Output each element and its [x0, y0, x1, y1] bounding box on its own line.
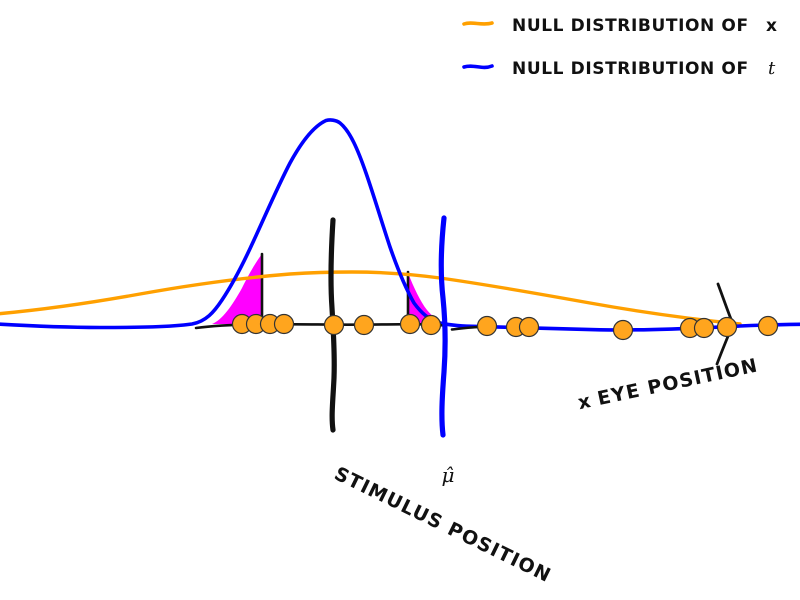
data-point — [695, 319, 714, 338]
legend-entry-null-distribution-of-x: NULL DISTRIBUTION OF x — [464, 16, 777, 36]
data-point — [614, 321, 633, 340]
eye-position-label-group: x EYE POSITION — [576, 354, 760, 414]
legend-symbol-x: x — [766, 16, 777, 36]
figure-root: NULL DISTRIBUTION OF x NULL DISTRIBUTION… — [0, 0, 800, 600]
legend-label-t: NULL DISTRIBUTION OF — [512, 59, 749, 79]
data-point — [275, 315, 294, 334]
data-point — [478, 317, 497, 336]
data-point — [759, 317, 778, 336]
data-point — [520, 318, 539, 337]
legend-swatch-orange — [464, 23, 492, 24]
data-point — [422, 316, 441, 335]
left-tail-shade — [212, 254, 262, 324]
legend-symbol-t: t — [768, 58, 776, 79]
legend-label-x: NULL DISTRIBUTION OF — [512, 16, 749, 36]
data-point — [401, 315, 420, 334]
legend-swatch-blue — [464, 66, 492, 67]
mu-hat-label: μ̂ — [442, 463, 455, 487]
eye-position-symbol: x — [576, 390, 593, 414]
legend-entry-null-distribution-of-t: NULL DISTRIBUTION OF t — [464, 58, 776, 79]
data-point — [325, 316, 344, 335]
legend: NULL DISTRIBUTION OF x NULL DISTRIBUTION… — [464, 16, 777, 79]
x-axis-segment-right — [452, 327, 478, 330]
data-point — [718, 318, 737, 337]
data-point — [355, 316, 374, 335]
eye-position-label: EYE POSITION — [596, 354, 761, 410]
plot-canvas: NULL DISTRIBUTION OF x NULL DISTRIBUTION… — [0, 0, 800, 600]
null-distribution-of-x-curve — [0, 272, 740, 324]
axis-annotations: STIMULUS POSITION μ̂ x EYE POSITION — [331, 354, 760, 587]
